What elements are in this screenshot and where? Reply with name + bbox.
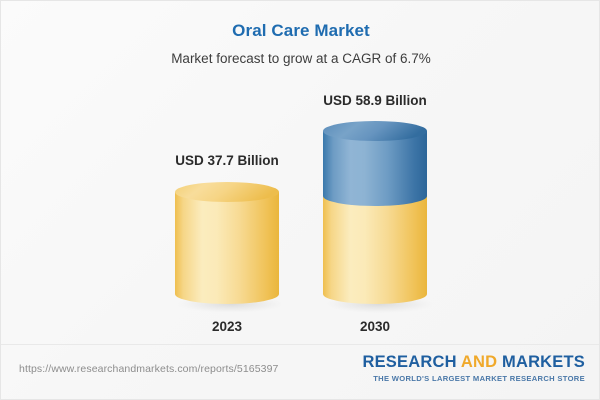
footer: https://www.researchandmarkets.com/repor… xyxy=(1,344,600,399)
cylinder-top-2023 xyxy=(175,182,279,202)
logo-word-research: RESEARCH xyxy=(362,353,460,371)
brand-logo[interactable]: RESEARCH AND MARKETS THE WORLD'S LARGEST… xyxy=(362,353,585,384)
cylinder-2023 xyxy=(175,182,279,311)
cylinder-segment-growth-2030 xyxy=(323,131,427,206)
cylinder-top-2030 xyxy=(323,121,427,141)
axis-label-2030: 2030 xyxy=(323,319,427,334)
source-url[interactable]: https://www.researchandmarkets.com/repor… xyxy=(19,363,278,375)
cylinder-segment-base-2030 xyxy=(323,196,427,304)
logo-word-and: AND xyxy=(461,353,497,371)
chart-canvas: Oral Care Market Market forecast to grow… xyxy=(0,0,600,400)
cylinder-2030 xyxy=(323,121,427,311)
bar-value-label-2030: USD 58.9 Billion xyxy=(323,93,427,108)
bar-group-2023: USD 37.7 Billion xyxy=(175,1,279,346)
logo-word-markets: MARKETS xyxy=(497,353,585,371)
plot-area: USD 37.7 Billion xyxy=(1,1,600,346)
cylinder-body-2023 xyxy=(175,192,279,304)
logo-wordmark: RESEARCH AND MARKETS xyxy=(362,353,585,372)
bar-value-label-2023: USD 37.7 Billion xyxy=(175,153,279,168)
logo-tagline: THE WORLD'S LARGEST MARKET RESEARCH STOR… xyxy=(362,373,585,384)
bar-group-2030: USD 58.9 Billion xyxy=(323,1,427,346)
axis-label-2023: 2023 xyxy=(175,319,279,334)
